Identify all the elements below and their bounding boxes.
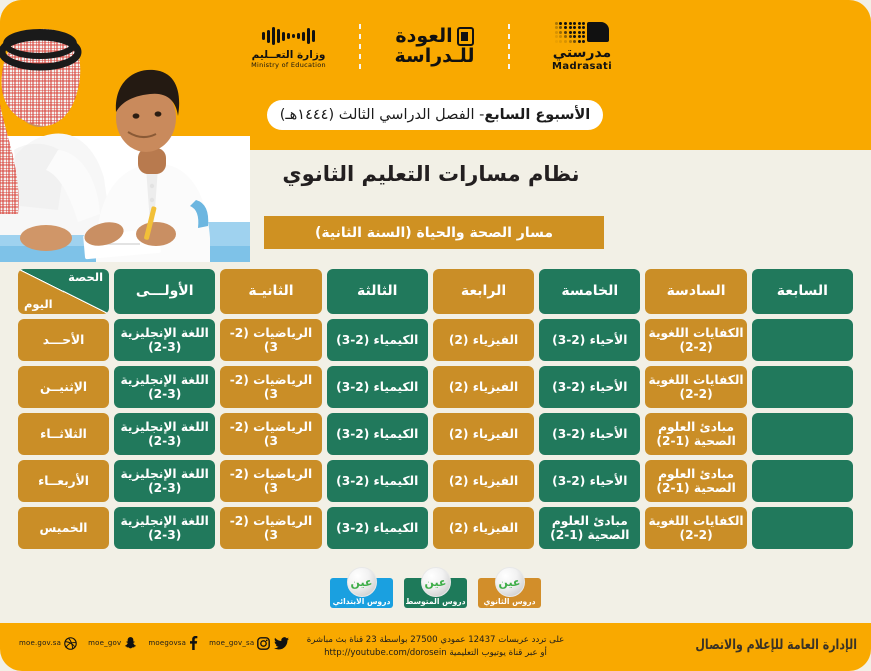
cell-tuesday-p4: الفيزياء (2) <box>433 413 534 455</box>
corner-header-cell: الحصة اليوم <box>18 269 109 314</box>
cell-monday-p3: الكيمياء (2-3) <box>327 366 428 408</box>
cell-thursday-p6: الكفايات اللغوية (2-2) <box>645 507 746 549</box>
day-label-wednesday: الأربعــاء <box>18 460 109 502</box>
ain-badge-text-secondary: عين <box>499 577 521 588</box>
cell-wednesday-p6: مبادئ العلوم الصحية (1-2) <box>645 460 746 502</box>
week-banner: الأسبوع السابع - الفصل الدراسي الثالث (١… <box>267 100 603 130</box>
cell-wednesday-p7 <box>752 460 853 502</box>
week-banner-bold: الأسبوع السابع <box>484 107 590 123</box>
schedule-table: السابعة السادسة الخامسة الرابعة الثالثة … <box>13 264 858 554</box>
cell-wednesday-p4: الفيزياء (2) <box>433 460 534 502</box>
madrasati-logo-latin: Madrasati <box>552 61 612 72</box>
table-row: الكفايات اللغوية (2-2) الأحياء (2-3) الف… <box>18 319 853 361</box>
period-header-2: الثانيـة <box>220 269 321 314</box>
table-row: مبادئ العلوم الصحية (1-2) الأحياء (2-3) … <box>18 460 853 502</box>
schedule-poster: مدرستي Madrasati العودة للـدراسة <box>0 0 871 671</box>
ministry-logo-arabic: وزارة التعــليم <box>252 49 326 61</box>
ain-secondary-button[interactable]: عين دروس الثانوي <box>478 578 541 608</box>
table-row: مبادئ العلوم الصحية (1-2) الأحياء (2-3) … <box>18 413 853 455</box>
page-title: نظام مسارات التعليم الثانوي <box>241 162 621 186</box>
backpack-icon <box>457 27 474 46</box>
logo-divider-1 <box>508 24 510 70</box>
ain-logo-icon: عين <box>347 567 377 597</box>
footer-line-2-prefix: أو عبر قناة يوتيوب التعليمية <box>447 648 547 658</box>
ministry-logo-icon <box>262 25 315 47</box>
ain-intermediate-button[interactable]: عين دروس المتوسط <box>404 578 467 608</box>
cell-wednesday-p1: اللغة الإنجليزية (3-2) <box>114 460 215 502</box>
media-department-brand: الإدارة العامة للإعلام والاتصال <box>695 636 857 652</box>
ain-badge-text-intermediate: عين <box>425 577 447 588</box>
cell-wednesday-p5: الأحياء (2-3) <box>539 460 640 502</box>
day-label-monday: الإثنيــن <box>18 366 109 408</box>
table-header-row: السابعة السادسة الخامسة الرابعة الثالثة … <box>18 269 853 314</box>
cell-wednesday-p2: الرياضيات (2-3) <box>220 460 321 502</box>
schedule-table-wrapper: السابعة السادسة الخامسة الرابعة الثالثة … <box>13 264 858 554</box>
period-header-1: الأولـــى <box>114 269 215 314</box>
cell-thursday-p4: الفيزياء (2) <box>433 507 534 549</box>
period-header-7: السابعة <box>752 269 853 314</box>
table-row: الكفايات اللغوية (2-2) الأحياء (2-3) الف… <box>18 366 853 408</box>
period-header-5: الخامسة <box>539 269 640 314</box>
week-banner-rest: - الفصل الدراسي الثالث (١٤٤٤هـ) <box>280 107 485 123</box>
cell-tuesday-p1: اللغة الإنجليزية (3-2) <box>114 413 215 455</box>
ain-buttons-row: عين دروس الثانوي عين دروس المتوسط عين در… <box>0 578 871 608</box>
corner-period-label: الحصة <box>68 271 103 285</box>
cell-thursday-p5: مبادئ العلوم الصحية (1-2) <box>539 507 640 549</box>
logo-strip: مدرستي Madrasati العودة للـدراسة <box>231 16 641 78</box>
cell-tuesday-p2: الرياضيات (2-3) <box>220 413 321 455</box>
day-label-sunday: الأحـــد <box>18 319 109 361</box>
ain-primary-button[interactable]: عين دروس الابتدائي <box>330 578 393 608</box>
cell-sunday-p4: الفيزياء (2) <box>433 319 534 361</box>
period-header-6: السادسة <box>645 269 746 314</box>
ain-logo-icon: عين <box>495 567 525 597</box>
cell-thursday-p1: اللغة الإنجليزية (3-2) <box>114 507 215 549</box>
cell-thursday-p2: الرياضيات (2-3) <box>220 507 321 549</box>
back-to-school-logo: العودة للـدراسة <box>375 27 495 68</box>
cell-sunday-p3: الكيمياء (2-3) <box>327 319 428 361</box>
cell-sunday-p5: الأحياء (2-3) <box>539 319 640 361</box>
day-label-thursday: الخميس <box>18 507 109 549</box>
cell-monday-p5: الأحياء (2-3) <box>539 366 640 408</box>
cell-sunday-p7 <box>752 319 853 361</box>
back-to-school-line1: العودة <box>395 27 452 46</box>
ain-logo-icon: عين <box>421 567 451 597</box>
cell-monday-p4: الفيزياء (2) <box>433 366 534 408</box>
corner-day-label: اليوم <box>24 298 53 312</box>
track-badge: مسار الصحة والحياة (السنة الثانية) <box>264 216 604 249</box>
cell-thursday-p3: الكيمياء (2-3) <box>327 507 428 549</box>
cell-thursday-p7 <box>752 507 853 549</box>
cell-wednesday-p3: الكيمياء (2-3) <box>327 460 428 502</box>
cell-tuesday-p6: مبادئ العلوم الصحية (1-2) <box>645 413 746 455</box>
cell-sunday-p2: الرياضيات (2-3) <box>220 319 321 361</box>
period-header-3: الثالثة <box>327 269 428 314</box>
students-photo <box>0 0 250 262</box>
cell-sunday-p6: الكفايات اللغوية (2-2) <box>645 319 746 361</box>
footer-bar: moe_gov_sa moegovsa moe_gov moe.gov.sa <box>0 623 871 671</box>
logo-divider-2 <box>359 24 361 70</box>
madrasati-logo: مدرستي Madrasati <box>523 22 641 73</box>
ain-badge-text-primary: عين <box>351 577 373 588</box>
cell-monday-p1: اللغة الإنجليزية (3-2) <box>114 366 215 408</box>
cell-sunday-p1: اللغة الإنجليزية (3-2) <box>114 319 215 361</box>
cell-monday-p2: الرياضيات (2-3) <box>220 366 321 408</box>
cell-tuesday-p7 <box>752 413 853 455</box>
ain-intermediate-label: دروس المتوسط <box>405 597 465 606</box>
day-label-tuesday: الثلاثــاء <box>18 413 109 455</box>
cell-monday-p6: الكفايات اللغوية (2-2) <box>645 366 746 408</box>
back-to-school-line2: للـدراسة <box>394 46 474 68</box>
cell-tuesday-p5: الأحياء (2-3) <box>539 413 640 455</box>
table-row: الكفايات اللغوية (2-2) مبادئ العلوم الصح… <box>18 507 853 549</box>
madrasati-logo-icon <box>555 22 610 43</box>
footer-youtube-url[interactable]: http://youtube.com/dorosein <box>324 648 447 658</box>
cell-tuesday-p3: الكيمياء (2-3) <box>327 413 428 455</box>
madrasati-logo-arabic: مدرستي <box>553 46 611 61</box>
students-photo-illustration <box>0 0 250 262</box>
ain-secondary-label: دروس الثانوي <box>483 597 535 606</box>
ministry-logo-english: Ministry of Education <box>251 61 326 69</box>
period-header-4: الرابعة <box>433 269 534 314</box>
ain-primary-label: دروس الابتدائي <box>333 597 391 606</box>
cell-monday-p7 <box>752 366 853 408</box>
